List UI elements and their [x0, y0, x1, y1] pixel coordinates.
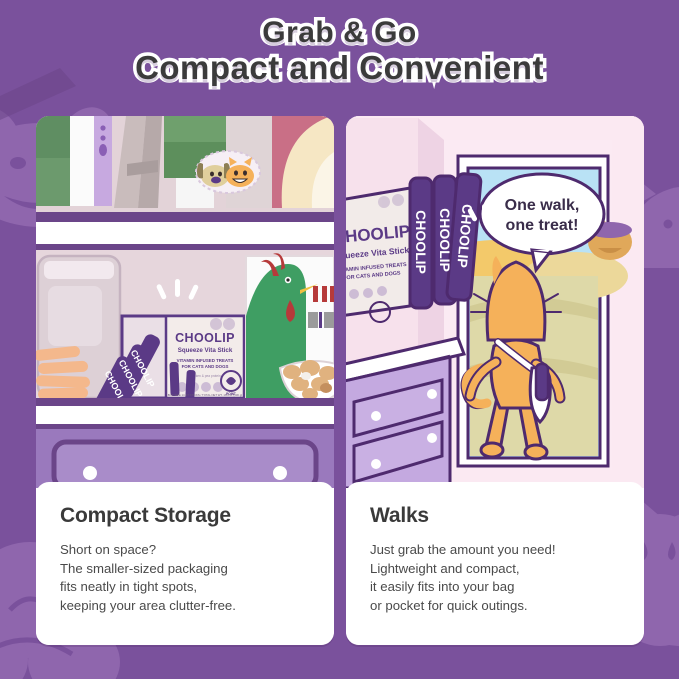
sticks-in-box: CHOOLIP CHOOLIP CHOOLIP: [410, 173, 481, 308]
drawer-knob-left: [83, 466, 97, 480]
panel-compact-storage[interactable]: CHOOLIP Squeeze Vita Stick VITAMIN INFUS…: [36, 116, 334, 645]
walks-card: Walks Just grab the amount you need! Lig…: [346, 482, 644, 645]
svg-text:CHOOLIP: CHOOLIP: [437, 208, 453, 272]
drawer-knob-right: [273, 466, 287, 480]
compact-storage-body: Short on space? The smaller-sized packag…: [60, 541, 310, 616]
svg-text:CHOOLIP: CHOOLIP: [175, 331, 235, 345]
cereal-box: [246, 253, 334, 402]
poster-root: Grab & Go Compact and Convenient: [0, 0, 679, 679]
title-line-1: Grab & Go: [0, 18, 679, 49]
svg-text:FOR CATS AND DOGS: FOR CATS AND DOGS: [182, 364, 229, 369]
dog-cat-sticker: [196, 151, 260, 193]
panel-walks[interactable]: One walk, one treat!: [346, 116, 644, 645]
svg-text:VITAMIN INFUSED TREATS: VITAMIN INFUSED TREATS: [177, 358, 234, 363]
svg-text:BOX SIZE 14 ST STICKS / TOTAL: BOX SIZE 14 ST STICKS / TOTAL NET WT. 18…: [168, 393, 242, 397]
title-line-2: Compact and Convenient: [0, 51, 679, 85]
svg-text:One walk,: One walk,: [505, 197, 580, 214]
walks-body: Just grab the amount you need! Lightweig…: [370, 541, 620, 616]
svg-text:CHOOLIP: CHOOLIP: [413, 210, 429, 274]
cabinet: [346, 338, 464, 488]
compact-storage-heading: Compact Storage: [60, 504, 310, 528]
compact-storage-illustration: CHOOLIP Squeeze Vita Stick VITAMIN INFUS…: [36, 116, 334, 488]
compact-storage-card: Compact Storage Short on space? The smal…: [36, 482, 334, 645]
svg-text:Squeeze Vita Stick: Squeeze Vita Stick: [178, 347, 233, 354]
walks-heading: Walks: [370, 504, 620, 528]
poster-header: Grab & Go Compact and Convenient: [0, 18, 679, 84]
svg-text:one treat!: one treat!: [506, 217, 579, 234]
walks-illustration: One walk, one treat!: [346, 116, 644, 488]
